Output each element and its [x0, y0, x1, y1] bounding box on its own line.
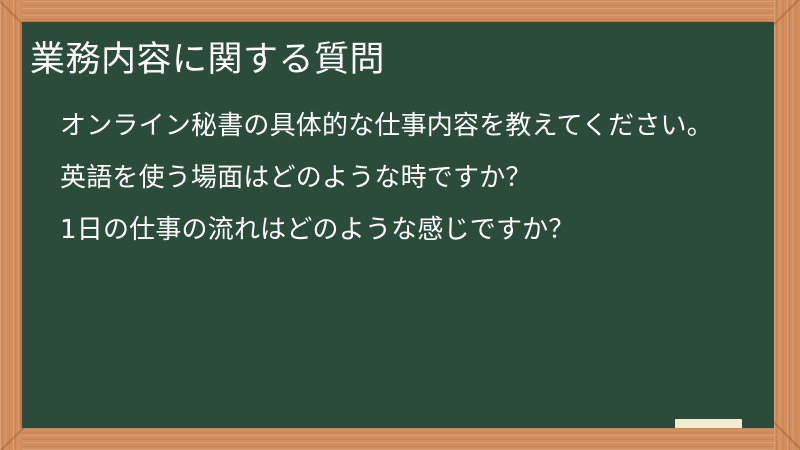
question-line: 1日の仕事の流れはどのような感じですか？ — [60, 212, 760, 248]
board-title: 業務内容に関する質問 — [30, 38, 385, 82]
chalk-stick-icon — [675, 419, 742, 428]
question-line: 英語を使う場面はどのような時ですか？ — [60, 160, 760, 196]
board-question-list: オンライン秘書の具体的な仕事内容を教えてください。 英語を使う場面はどのような時… — [60, 108, 760, 248]
chalkboard-slide: 業務内容に関する質問 オンライン秘書の具体的な仕事内容を教えてください。 英語を… — [0, 0, 800, 450]
frame-plank-bottom — [0, 427, 800, 450]
blackboard-surface: 業務内容に関する質問 オンライン秘書の具体的な仕事内容を教えてください。 英語を… — [22, 22, 774, 428]
frame-plank-top — [0, 0, 800, 23]
frame-plank-right — [774, 0, 800, 450]
frame-plank-left — [0, 0, 22, 450]
question-line: オンライン秘書の具体的な仕事内容を教えてください。 — [60, 108, 760, 144]
